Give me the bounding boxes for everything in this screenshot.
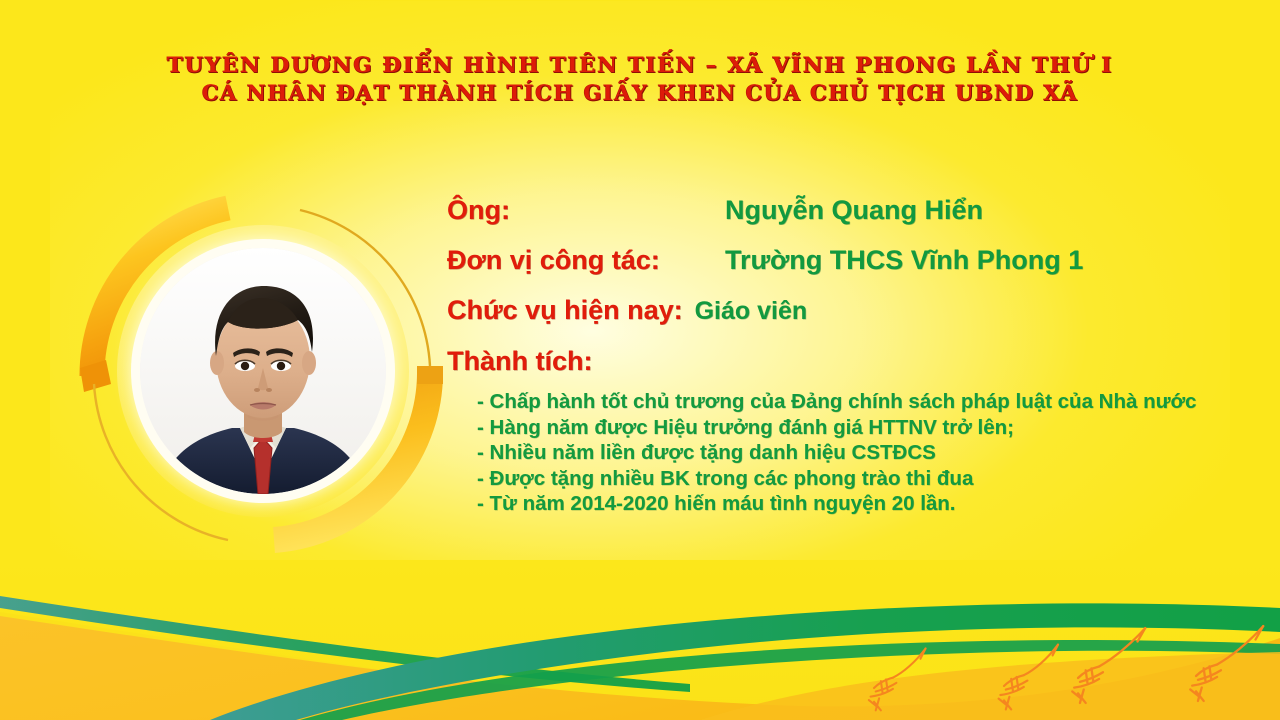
title-line-1: TUYÊN DƯƠNG ĐIỂN HÌNH TIÊN TIẾN – XÃ VĨN… [0,52,1280,79]
work-unit-label: Đơn vị công tác: [447,238,725,282]
bottom-decoration [0,560,1280,720]
achievements-heading: Thành tích: [447,339,1267,383]
achievement-item: - Từ năm 2014-2020 hiến máu tình nguyện … [477,491,1267,517]
honoree-info: Ông: Nguyễn Quang Hiển Đơn vị công tác: … [447,188,1267,517]
portrait-photo [140,248,386,494]
achievement-item: - Được tặng nhiều BK trong các phong trà… [477,466,1267,492]
bottom-decoration-svg [0,560,1280,720]
row-work-unit: Đơn vị công tác: Trường THCS Vĩnh Phong … [447,238,1267,282]
name-label: Ông: [447,188,725,232]
row-position: Chức vụ hiện nay: Giáo viên [447,288,1267,333]
achievements-list: - Chấp hành tốt chủ trương của Đảng chín… [447,389,1267,517]
slide-title: TUYÊN DƯƠNG ĐIỂN HÌNH TIÊN TIẾN – XÃ VĨN… [0,52,1280,106]
slide-canvas: TUYÊN DƯƠNG ĐIỂN HÌNH TIÊN TIẾN – XÃ VĨN… [0,0,1280,720]
title-line-2: CÁ NHÂN ĐẠT THÀNH TÍCH GIẤY KHEN CỦA CHỦ… [0,79,1280,106]
position-value: Giáo viên [695,289,808,333]
achievement-item: - Hàng năm được Hiệu trưởng đánh giá HTT… [477,415,1267,441]
work-unit-value: Trường THCS Vĩnh Phong 1 [725,238,1083,282]
row-name: Ông: Nguyễn Quang Hiển [447,188,1267,232]
name-value: Nguyễn Quang Hiển [725,188,983,232]
achievement-item: - Chấp hành tốt chủ trương của Đảng chín… [477,389,1267,415]
portrait-photo-image [140,248,386,494]
achievement-item: - Nhiều năm liền được tặng danh hiệu CST… [477,440,1267,466]
portrait-frame [78,188,446,556]
position-label: Chức vụ hiện nay: [447,288,683,332]
